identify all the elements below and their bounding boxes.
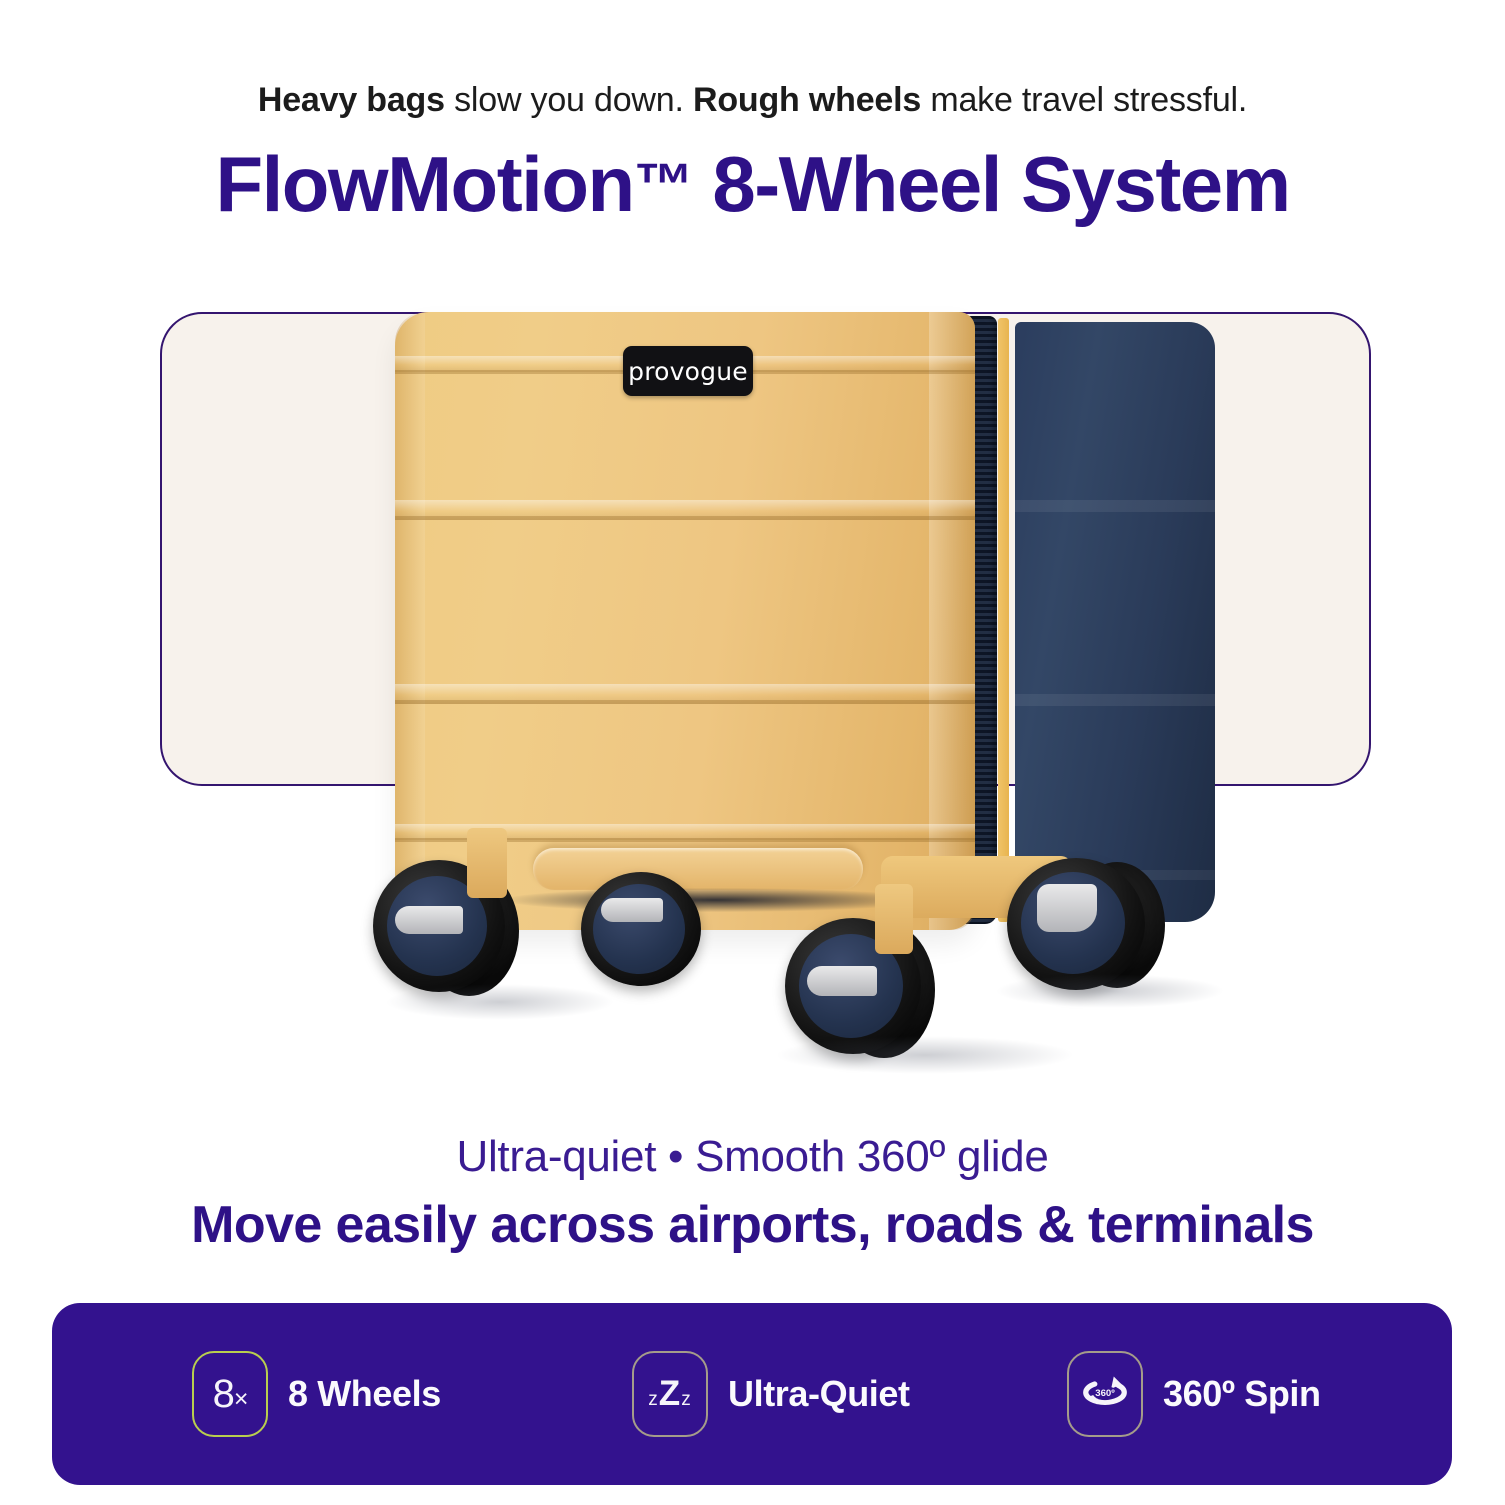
tagline-mid-2: make travel stressful. [921,81,1247,119]
trademark-symbol: ™ [634,151,693,218]
subcopy-line-2: Move easily across airports, roads & ter… [0,1192,1505,1258]
wheel-hub [799,934,903,1038]
wheel-center [581,872,713,992]
wheel-front-right [785,918,937,1070]
tagline: Heavy bags slow you down. Rough wheels m… [0,78,1505,122]
floor-shadow-rear [995,974,1225,1008]
wheel-hub-slot [1037,884,1097,932]
badge-360-spin: 360º 360º Spin [1067,1351,1321,1437]
wheel-hub-slot [807,966,877,996]
feature-badge-bar: 8× 8 Wheels zZz Ultra-Quiet 360º 360º Sp… [52,1303,1452,1485]
wheel-hub-slot [601,898,663,922]
bottom-grab-handle [533,848,863,890]
zzz-small-left: z [648,1389,659,1410]
zzz-small-right: z [681,1389,692,1410]
badge-label-ultra-quiet: Ultra-Quiet [728,1373,910,1415]
wheel-hub-slot [395,906,463,934]
wheel-rear-right [1007,858,1167,998]
wheel-inner-tyre [419,866,519,996]
wheel-axle-front-left [467,828,507,898]
floor-shadow-right [775,1036,1075,1074]
three-sixty-spin-icon-glyph: 360º [1077,1366,1133,1422]
hero-image-panel [160,312,1371,786]
page-title: FlowMotion™ 8-Wheel System [0,136,1505,233]
zzz-big: Z [659,1374,681,1413]
sleep-zzz-icon: zZz [632,1351,708,1437]
wheel-tyre [373,860,505,992]
tagline-mid-1: slow you down. [445,81,693,119]
headline-rest: 8-Wheel System [692,140,1289,228]
three-sixty-icon-text: 360º [1095,1388,1115,1399]
subcopy-line-1: Ultra-quiet • Smooth 360º glide [0,1128,1505,1186]
underside-shadow [505,888,925,912]
tagline-bold-heavy-bags: Heavy bags [258,81,445,119]
badge-label-8-wheels: 8 Wheels [288,1373,441,1415]
floor-shadow-left [385,984,615,1020]
tagline-bold-rough-wheels: Rough wheels [693,81,921,119]
wheel-tyre [581,872,701,986]
bottom-right-foot [881,856,1071,918]
wheel-axle-front-right [875,884,913,954]
wheel-hub [593,884,685,974]
headline-brand: FlowMotion [215,140,633,228]
wheel-tyre [785,918,921,1054]
badge-label-360-spin: 360º Spin [1163,1373,1321,1415]
wheel-inner-tyre [1069,862,1165,988]
badge-8-wheels: 8× 8 Wheels [192,1351,441,1437]
wheel-hub [387,876,487,976]
wheel-tyre [1007,858,1145,990]
badge-ultra-quiet: zZz Ultra-Quiet [632,1351,910,1437]
eight-times-icon-number: 8 [213,1372,234,1416]
wheel-hub [1021,872,1125,974]
product-infographic: Heavy bags slow you down. Rough wheels m… [0,0,1505,1505]
shell-band-4 [395,824,975,840]
shell-groove-4 [395,838,975,842]
three-sixty-spin-icon: 360º [1067,1351,1143,1437]
wheel-inner-tyre [833,922,935,1058]
eight-times-icon-multiplier: × [234,1385,248,1413]
wheel-front-left [373,860,521,1008]
eight-times-icon: 8× [192,1351,268,1437]
